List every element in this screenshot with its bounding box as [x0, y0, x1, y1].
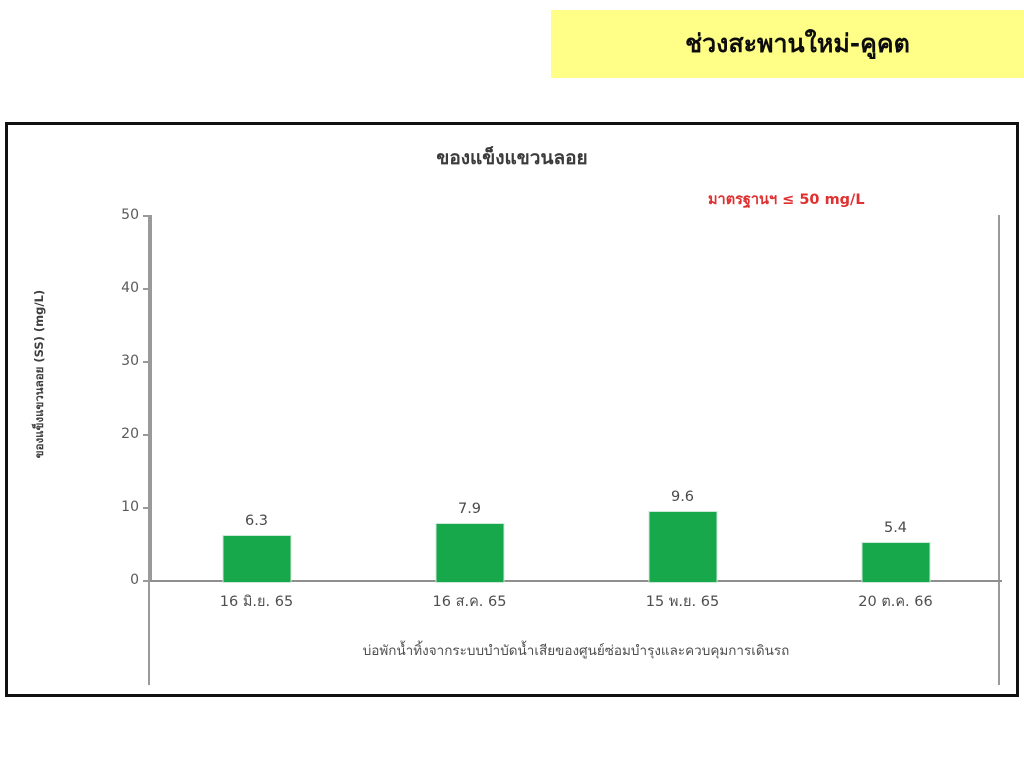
y-axis-title: ของแข็งแขวนลอย (SS) (mg/L)	[31, 264, 49, 484]
y-axis-tick-mark	[143, 288, 150, 290]
bar[interactable]	[862, 543, 929, 582]
chart-container: ของแข็งแขวนลอย มาตรฐานฯ ≤ 50 mg/L ของแข็…	[8, 125, 1016, 694]
bars-layer: 6.37.99.65.4	[150, 215, 1002, 582]
category-label: 16 ส.ค. 65	[363, 590, 576, 613]
bar-value-label: 9.6	[671, 489, 694, 505]
y-axis-tick-label: 0	[130, 572, 139, 588]
chart-title: ของแข็งแขวนลอย	[8, 143, 1016, 173]
plot-area: 50403020100 6.37.99.65.4 16 มิ.ย. 6516 ส…	[148, 215, 1000, 685]
y-axis-tick-label: 30	[121, 353, 139, 369]
y-axis-tick-label: 10	[121, 499, 139, 515]
chart-frame: ของแข็งแขวนลอย มาตรฐานฯ ≤ 50 mg/L ของแข็…	[5, 122, 1019, 697]
title-banner: ช่วงสะพานใหม่-คูคต	[551, 10, 1024, 78]
y-axis-tick-label: 20	[121, 426, 139, 442]
bar-value-label: 6.3	[245, 513, 268, 529]
category-label: 15 พ.ย. 65	[576, 590, 789, 613]
y-axis-tick-mark	[143, 580, 150, 582]
x-axis-caption: บ่อพักน้ำทิ้งจากระบบบำบัดน้ำเสียของศูนย์…	[150, 639, 1002, 661]
y-axis-tick-label: 40	[121, 280, 139, 296]
y-axis-tick-mark	[143, 215, 150, 217]
bar[interactable]	[436, 524, 503, 582]
bar-group: 9.6	[576, 215, 789, 582]
standard-annotation: มาตรฐานฯ ≤ 50 mg/L	[708, 188, 865, 211]
bar[interactable]	[223, 536, 290, 582]
bar-value-label: 7.9	[458, 501, 481, 517]
category-label: 16 มิ.ย. 65	[150, 590, 363, 613]
banner-title-text: ช่วงสะพานใหม่-คูคต	[685, 24, 910, 64]
y-axis-tick-mark	[143, 507, 150, 509]
bar-value-label: 5.4	[884, 520, 907, 536]
y-axis-tick-label: 50	[121, 207, 139, 223]
category-labels: 16 มิ.ย. 6516 ส.ค. 6515 พ.ย. 6520 ต.ค. 6…	[150, 590, 1002, 616]
bar-group: 6.3	[150, 215, 363, 582]
bar[interactable]	[649, 512, 716, 582]
y-axis-tick-mark	[143, 361, 150, 363]
y-axis-tick-mark	[143, 434, 150, 436]
bar-group: 7.9	[363, 215, 576, 582]
category-label: 20 ต.ค. 66	[789, 590, 1002, 613]
bar-group: 5.4	[789, 215, 1002, 582]
